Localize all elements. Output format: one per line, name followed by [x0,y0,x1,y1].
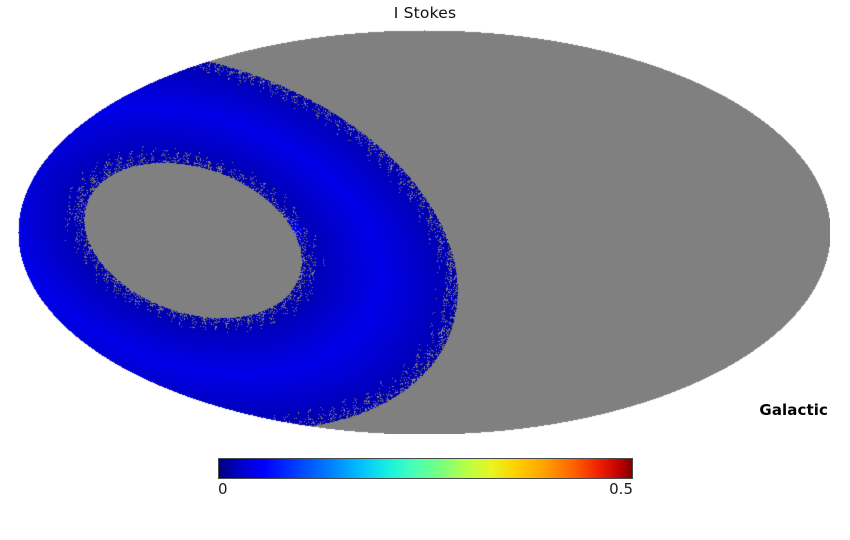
mollweide-projection [18,30,830,434]
colorbar-gradient[interactable] [218,458,633,479]
sky-map-canvas [18,30,830,434]
colorbar-max-tick-label: 0.5 [609,480,633,498]
colorbar[interactable]: 0 0.5 [218,458,633,502]
colorbar-min-tick-label: 0 [218,480,228,498]
page-title: I Stokes [0,2,850,24]
healpix-map-figure: I Stokes Galactic 0 0.5 [0,0,850,540]
coordinate-system-label: Galactic [759,401,828,419]
